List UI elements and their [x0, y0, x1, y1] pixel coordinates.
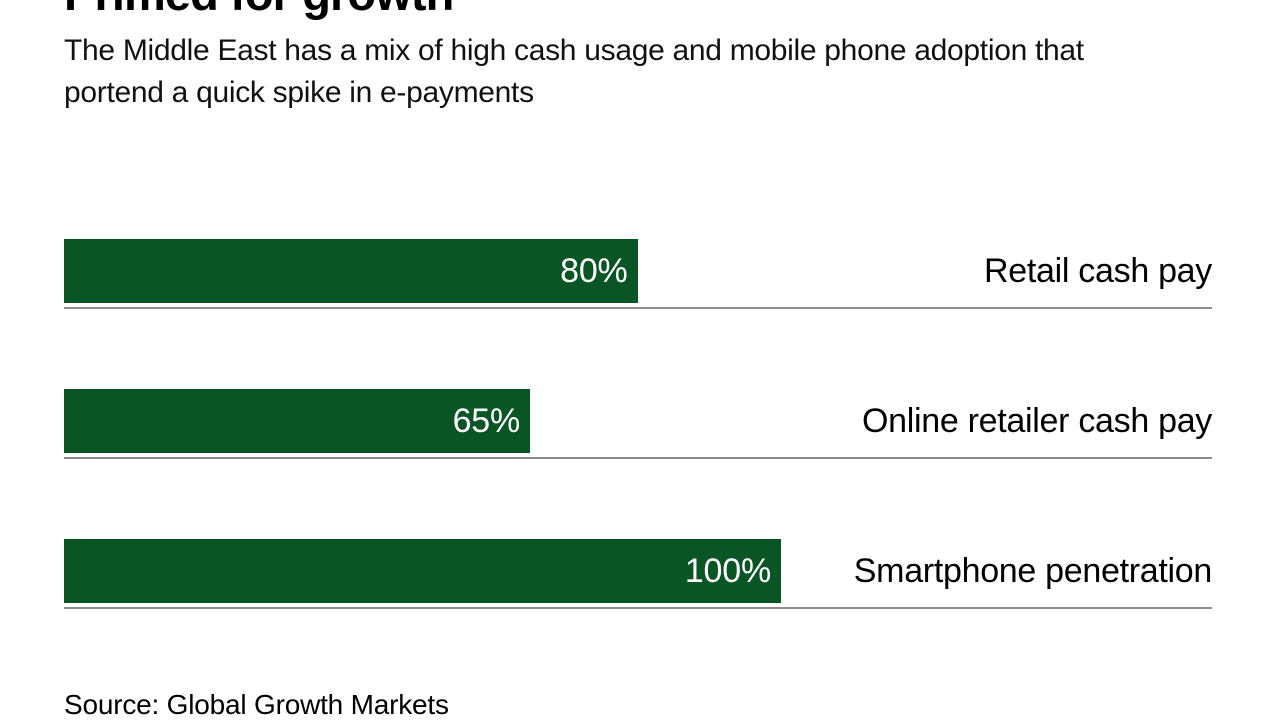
bar-row: 65% Online retailer cash pay [0, 389, 1280, 539]
bar-fill: 65% [64, 389, 530, 453]
bar-category-label: Smartphone penetration [854, 539, 1212, 603]
bar-baseline [64, 607, 1212, 609]
bar-fill: 80% [64, 239, 638, 303]
bar-value-label: 65% [453, 404, 520, 438]
bar-fill: 100% [64, 539, 781, 603]
chart-container: Primed for growth The Middle East has a … [0, 0, 1280, 720]
bar-value-label: 80% [560, 254, 627, 288]
bar-chart-plot-area: 80% Retail cash pay 65% Online retailer … [0, 239, 1280, 689]
chart-subtitle: The Middle East has a mix of high cash u… [64, 30, 1094, 114]
bar-row: 80% Retail cash pay [0, 239, 1280, 389]
bar-baseline [64, 457, 1212, 459]
bar-row: 100% Smartphone penetration [0, 539, 1280, 689]
bar-value-label: 100% [685, 554, 771, 588]
chart-header: Primed for growth The Middle East has a … [64, 0, 1214, 114]
chart-title: Primed for growth [64, 0, 1214, 22]
bar-baseline [64, 307, 1212, 309]
source-note: Source: Global Growth Markets [64, 688, 449, 722]
bar-category-label: Online retailer cash pay [862, 389, 1212, 453]
bar-category-label: Retail cash pay [984, 239, 1212, 303]
